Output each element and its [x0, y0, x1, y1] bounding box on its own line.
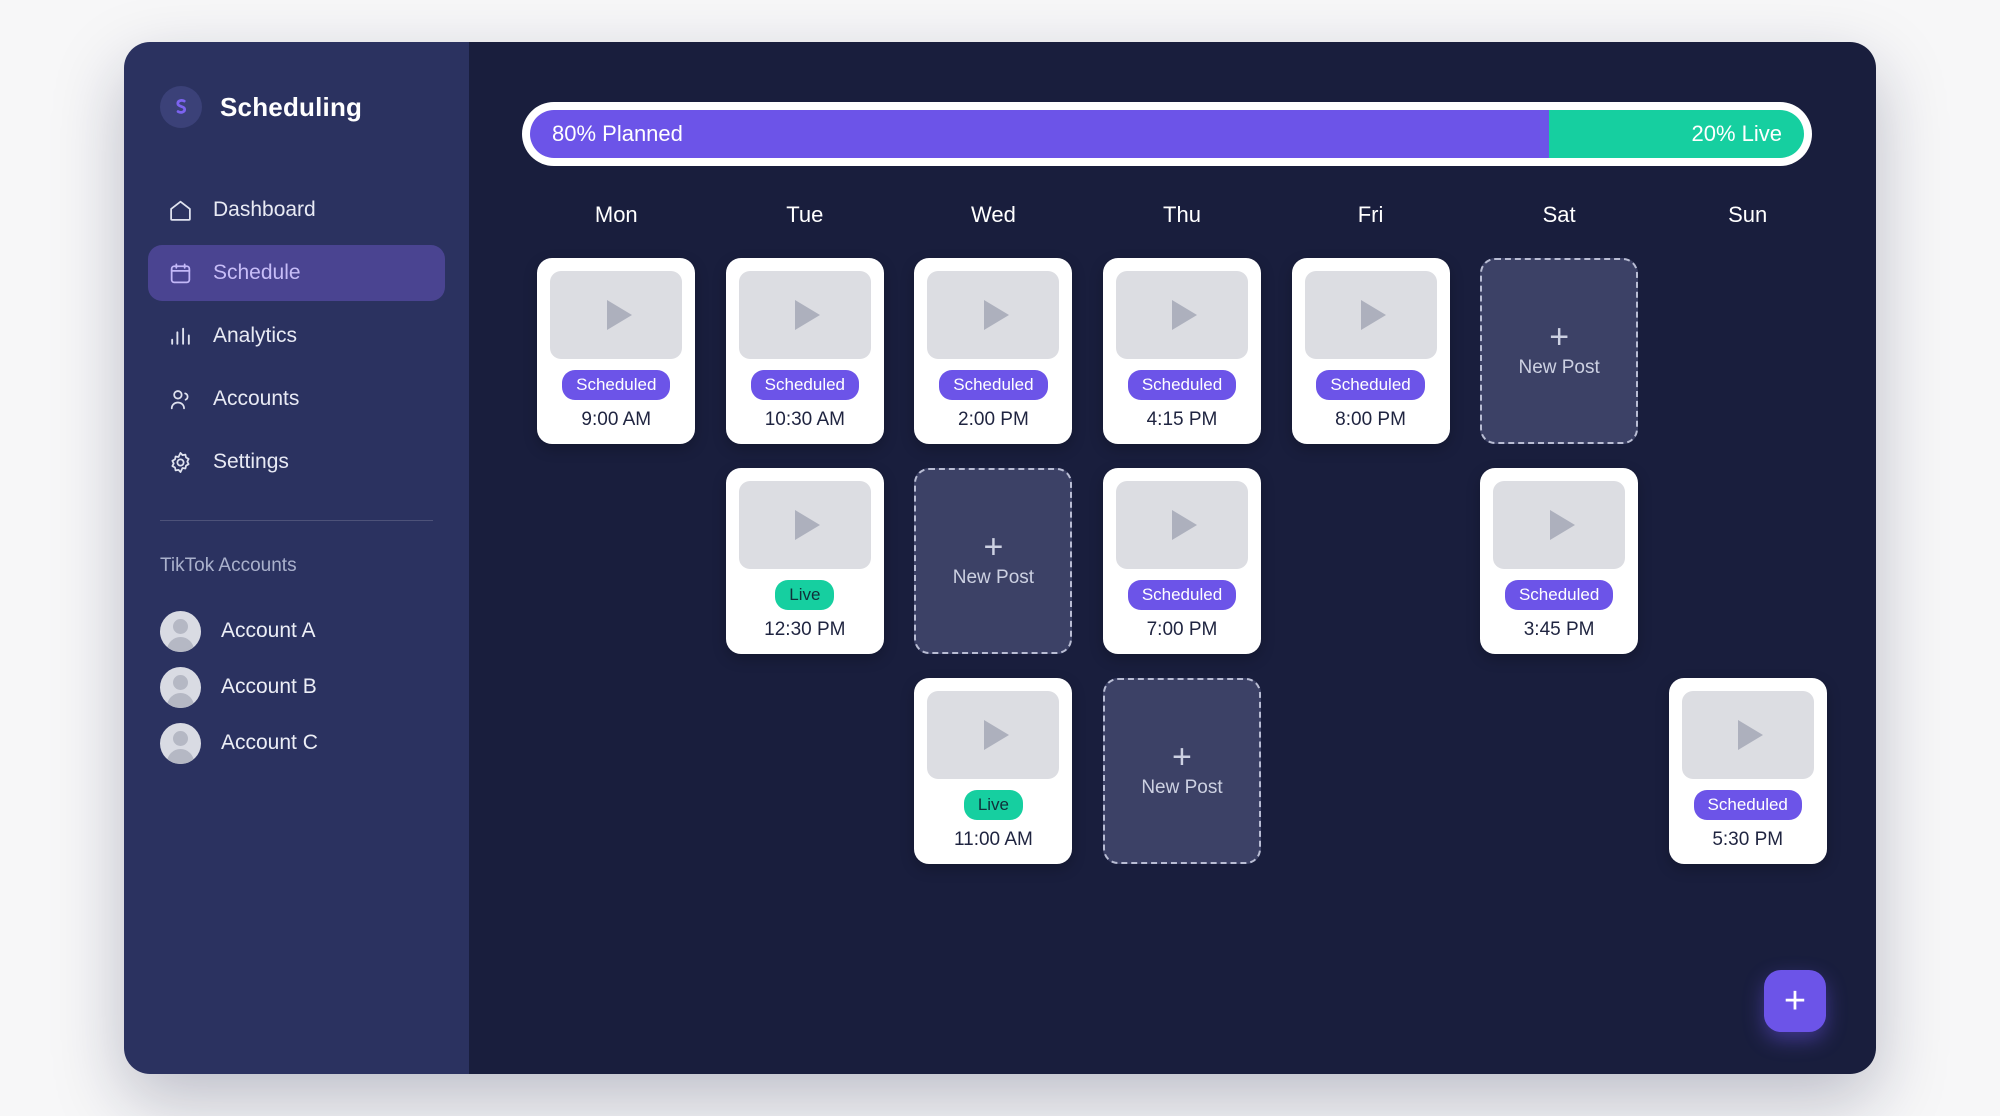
post-card[interactable]: Scheduled8:00 PM: [1292, 258, 1450, 444]
calendar-slot: Scheduled9:00 AM: [537, 258, 695, 444]
day-column: MonScheduled9:00 AM: [522, 202, 711, 888]
progress-bar[interactable]: 80% Planned 20% Live: [522, 102, 1812, 166]
account-item-b[interactable]: Account B: [124, 659, 469, 715]
sidebar: Scheduling Dashboard: [124, 42, 469, 1074]
app-window: Scheduling Dashboard: [124, 42, 1876, 1074]
progress-segment-live: 20% Live: [1549, 110, 1804, 158]
status-badge: Scheduled: [939, 370, 1047, 400]
play-icon: [984, 720, 1009, 750]
play-icon: [1172, 510, 1197, 540]
post-time: 10:30 AM: [765, 409, 845, 431]
plus-icon: +: [1549, 323, 1569, 351]
day-header: Fri: [1358, 202, 1384, 228]
day-header: Tue: [786, 202, 823, 228]
users-icon: [168, 387, 193, 412]
avatar: [160, 723, 201, 764]
video-thumbnail: [1116, 481, 1248, 569]
video-thumbnail: [550, 271, 682, 359]
bar-chart-icon: [168, 324, 193, 349]
video-thumbnail: [927, 271, 1059, 359]
post-time: 2:00 PM: [958, 409, 1029, 431]
progress-planned-label: 80% Planned: [552, 121, 683, 147]
play-icon: [1738, 720, 1763, 750]
plus-icon: +: [1172, 743, 1192, 771]
gear-icon: [168, 450, 193, 475]
day-header: Wed: [971, 202, 1016, 228]
post-card[interactable]: Live11:00 AM: [914, 678, 1072, 864]
sidebar-item-label: Accounts: [213, 387, 299, 411]
account-name: Account B: [221, 675, 317, 699]
status-badge: Scheduled: [562, 370, 670, 400]
day-column: Sat+New PostScheduled3:45 PM: [1465, 202, 1654, 888]
sidebar-item-settings[interactable]: Settings: [148, 434, 445, 490]
sidebar-item-schedule[interactable]: Schedule: [148, 245, 445, 301]
home-icon: [168, 198, 193, 223]
status-badge: Scheduled: [1316, 370, 1424, 400]
post-card[interactable]: Scheduled5:30 PM: [1669, 678, 1827, 864]
progress-track: 80% Planned 20% Live: [530, 110, 1804, 158]
play-icon: [1550, 510, 1575, 540]
status-badge: Scheduled: [1128, 580, 1236, 610]
video-thumbnail: [739, 271, 871, 359]
post-card[interactable]: Scheduled9:00 AM: [537, 258, 695, 444]
calendar-slot: Scheduled8:00 PM: [1292, 258, 1450, 444]
status-badge: Live: [775, 580, 834, 610]
video-thumbnail: [927, 691, 1059, 779]
progress-segment-planned: 80% Planned: [530, 110, 1549, 158]
avatar: [160, 667, 201, 708]
new-post-label: New Post: [1518, 357, 1599, 379]
video-thumbnail: [1305, 271, 1437, 359]
new-post-card[interactable]: +New Post: [1103, 678, 1261, 864]
progress-live-label: 20% Live: [1691, 121, 1782, 147]
post-card[interactable]: Scheduled7:00 PM: [1103, 468, 1261, 654]
video-thumbnail: [739, 481, 871, 569]
video-thumbnail: [1493, 481, 1625, 569]
new-post-card[interactable]: +New Post: [914, 468, 1072, 654]
calendar-slot: Scheduled10:30 AM: [726, 258, 884, 444]
sidebar-item-analytics[interactable]: Analytics: [148, 308, 445, 364]
post-time: 4:15 PM: [1147, 409, 1218, 431]
calendar-slot: +New Post: [1103, 678, 1261, 864]
brand: Scheduling: [124, 86, 469, 128]
post-time: 12:30 PM: [764, 619, 845, 641]
status-badge: Scheduled: [1694, 790, 1802, 820]
status-badge: Scheduled: [751, 370, 859, 400]
day-column: FriScheduled8:00 PM: [1276, 202, 1465, 888]
day-header: Sat: [1543, 202, 1576, 228]
sidebar-item-label: Analytics: [213, 324, 297, 348]
plus-icon: +: [983, 533, 1003, 561]
calendar-slot: Live11:00 AM: [914, 678, 1072, 864]
post-card[interactable]: Scheduled4:15 PM: [1103, 258, 1261, 444]
new-post-label: New Post: [953, 567, 1034, 589]
post-time: 9:00 AM: [581, 409, 651, 431]
day-column: SunScheduled5:30 PM: [1653, 202, 1842, 888]
post-time: 3:45 PM: [1524, 619, 1595, 641]
calendar-slot: Scheduled3:45 PM: [1480, 468, 1638, 654]
post-time: 5:30 PM: [1712, 829, 1783, 851]
status-badge: Scheduled: [1505, 580, 1613, 610]
sidebar-item-label: Schedule: [213, 261, 301, 285]
account-item-c[interactable]: Account C: [124, 715, 469, 771]
calendar-slot: Live12:30 PM: [726, 468, 884, 654]
account-name: Account A: [221, 619, 316, 643]
sidebar-item-label: Settings: [213, 450, 289, 474]
brand-title: Scheduling: [220, 92, 362, 123]
play-icon: [795, 510, 820, 540]
video-thumbnail: [1116, 271, 1248, 359]
post-time: 8:00 PM: [1335, 409, 1406, 431]
play-icon: [1172, 300, 1197, 330]
sidebar-item-accounts[interactable]: Accounts: [148, 371, 445, 427]
calendar-slot: +New Post: [1480, 258, 1638, 444]
sidebar-item-dashboard[interactable]: Dashboard: [148, 182, 445, 238]
new-post-card[interactable]: +New Post: [1480, 258, 1638, 444]
plus-icon: +: [1784, 984, 1806, 1018]
add-post-fab[interactable]: +: [1764, 970, 1826, 1032]
calendar-icon: [168, 261, 193, 286]
day-header: Thu: [1163, 202, 1201, 228]
s-swirl-logo-icon: [160, 86, 202, 128]
calendar-slot: Scheduled5:30 PM: [1669, 678, 1827, 864]
video-thumbnail: [1682, 691, 1814, 779]
new-post-label: New Post: [1141, 777, 1222, 799]
post-card[interactable]: Scheduled2:00 PM: [914, 258, 1072, 444]
post-card[interactable]: Scheduled10:30 AM: [726, 258, 884, 444]
account-item-a[interactable]: Account A: [124, 603, 469, 659]
main-content: 80% Planned 20% Live MonScheduled9:00 AM…: [469, 42, 1876, 1074]
avatar: [160, 611, 201, 652]
calendar-slot: Scheduled7:00 PM: [1103, 468, 1261, 654]
day-header: Sun: [1728, 202, 1767, 228]
day-column: WedScheduled2:00 PM+New PostLive11:00 AM: [899, 202, 1088, 888]
post-time: 11:00 AM: [954, 829, 1033, 851]
post-card[interactable]: Live12:30 PM: [726, 468, 884, 654]
sidebar-nav: Dashboard Schedule Anal: [124, 182, 469, 490]
calendar-slot: Scheduled2:00 PM: [914, 258, 1072, 444]
play-icon: [607, 300, 632, 330]
calendar-slot: +New Post: [914, 468, 1072, 654]
status-badge: Scheduled: [1128, 370, 1236, 400]
play-icon: [1361, 300, 1386, 330]
sidebar-item-label: Dashboard: [213, 198, 316, 222]
play-icon: [984, 300, 1009, 330]
post-card[interactable]: Scheduled3:45 PM: [1480, 468, 1638, 654]
calendar-grid: MonScheduled9:00 AMTueScheduled10:30 AML…: [522, 202, 1842, 888]
day-column: ThuScheduled4:15 PMScheduled7:00 PM+New …: [1088, 202, 1277, 888]
post-time: 7:00 PM: [1147, 619, 1218, 641]
play-icon: [795, 300, 820, 330]
day-column: TueScheduled10:30 AMLive12:30 PM: [711, 202, 900, 888]
day-header: Mon: [595, 202, 638, 228]
status-badge: Live: [964, 790, 1023, 820]
accounts-section-title: TikTok Accounts: [124, 521, 469, 577]
calendar-slot: Scheduled4:15 PM: [1103, 258, 1261, 444]
account-name: Account C: [221, 731, 318, 755]
